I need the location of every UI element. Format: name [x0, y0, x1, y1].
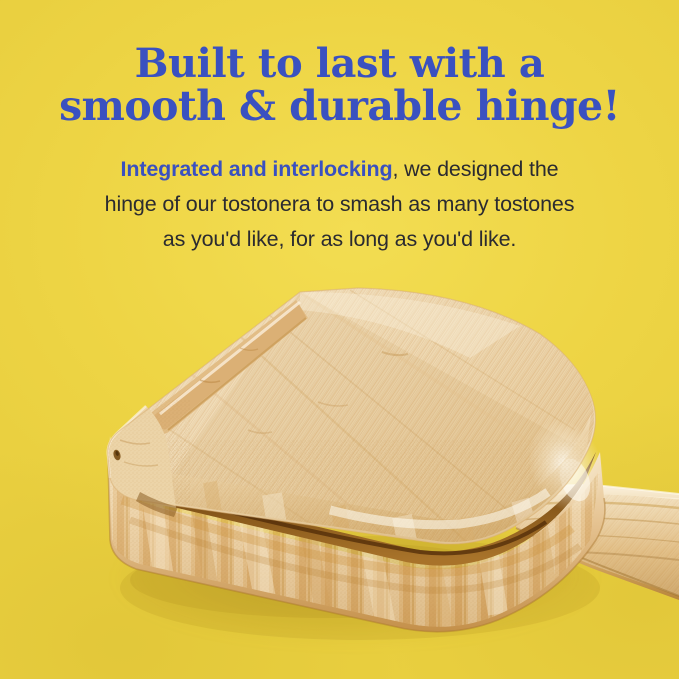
promo-image: Built to last with a smooth & durable hi…: [0, 0, 679, 679]
headline-line-2: smooth & durable hinge!: [0, 85, 679, 128]
drop-shadow: [120, 520, 590, 640]
body-line-3: as you'd like, for as long as you'd like…: [0, 222, 679, 257]
body-copy: Integrated and interlocking, we designed…: [0, 128, 679, 257]
body-line-2: hinge of our tostonera to smash as many …: [0, 187, 679, 222]
body-line-1: Integrated and interlocking, we designed…: [0, 152, 679, 187]
text-block: Built to last with a smooth & durable hi…: [0, 0, 679, 257]
body-line-1-rest: , we designed the: [392, 157, 558, 181]
page-title: Built to last with a smooth & durable hi…: [0, 0, 679, 128]
body-lead: Integrated and interlocking: [121, 157, 393, 181]
headline-line-1: Built to last with a: [0, 42, 679, 85]
